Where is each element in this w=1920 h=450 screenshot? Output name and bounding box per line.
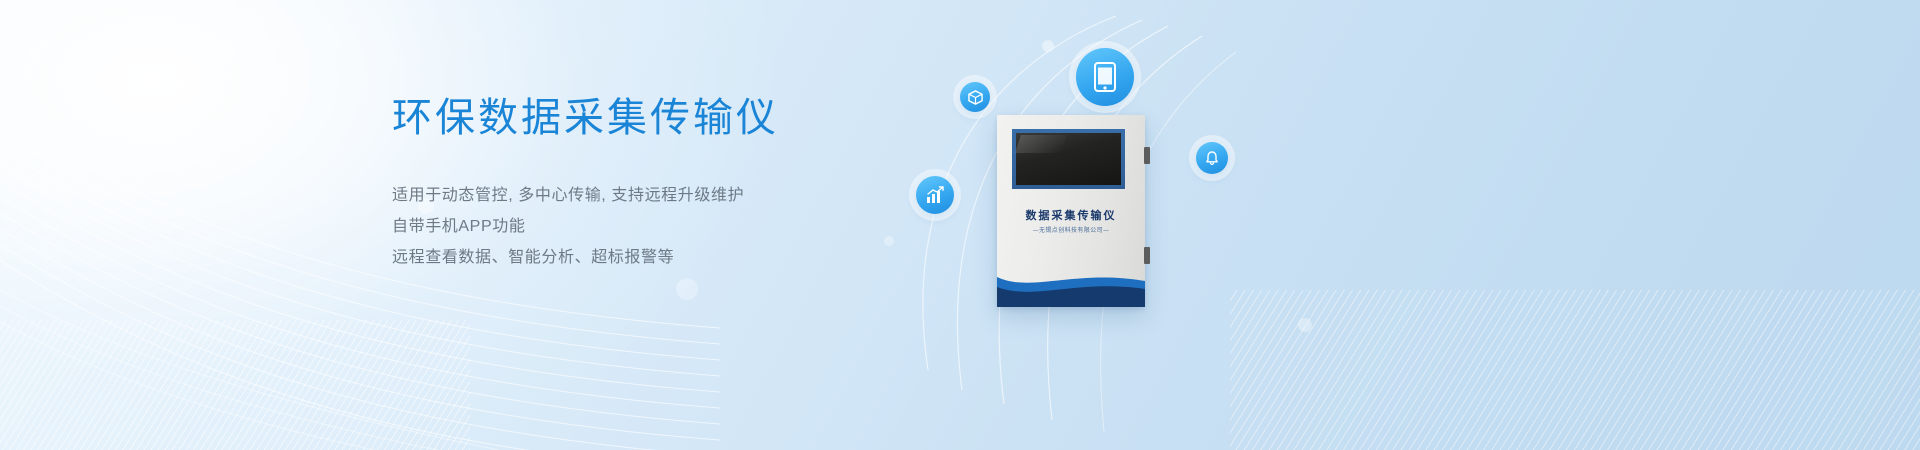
bokeh-dot <box>676 278 698 300</box>
subtitle-line-3: 远程查看数据、智能分析、超标报警等 <box>392 242 952 273</box>
device-title: 数据采集传输仪 <box>997 207 1145 223</box>
box-icon <box>960 82 990 112</box>
subtitle-line-1: 适用于动态管控, 多中心传输, 支持远程升级维护 <box>392 180 952 211</box>
data-acquisition-device: 数据采集传输仪 —无锡点创科技有限公司— <box>997 115 1145 307</box>
alarm-icon <box>1196 142 1228 174</box>
product-hero-banner: 环保数据采集传输仪 适用于动态管控, 多中心传输, 支持远程升级维护 自带手机A… <box>0 0 1920 450</box>
screen-glare <box>1015 135 1067 153</box>
phone-icon <box>1076 48 1134 106</box>
page-title: 环保数据采集传输仪 <box>392 92 952 144</box>
hero-subtitle-list: 适用于动态管控, 多中心传输, 支持远程升级维护 自带手机APP功能 远程查看数… <box>392 180 952 273</box>
hero-copy: 环保数据采集传输仪 适用于动态管控, 多中心传输, 支持远程升级维护 自带手机A… <box>392 92 952 273</box>
device-hinge-top <box>1144 147 1150 164</box>
chart-icon <box>916 176 954 214</box>
device-screen-frame <box>1012 129 1125 189</box>
subtitle-line-2: 自带手机APP功能 <box>392 211 952 242</box>
hero-artwork: 数据采集传输仪 —无锡点创科技有限公司— <box>880 0 1360 450</box>
device-wave-graphic <box>997 259 1145 307</box>
decorative-hatch-left <box>0 320 470 450</box>
device-company: —无锡点创科技有限公司— <box>997 225 1145 234</box>
